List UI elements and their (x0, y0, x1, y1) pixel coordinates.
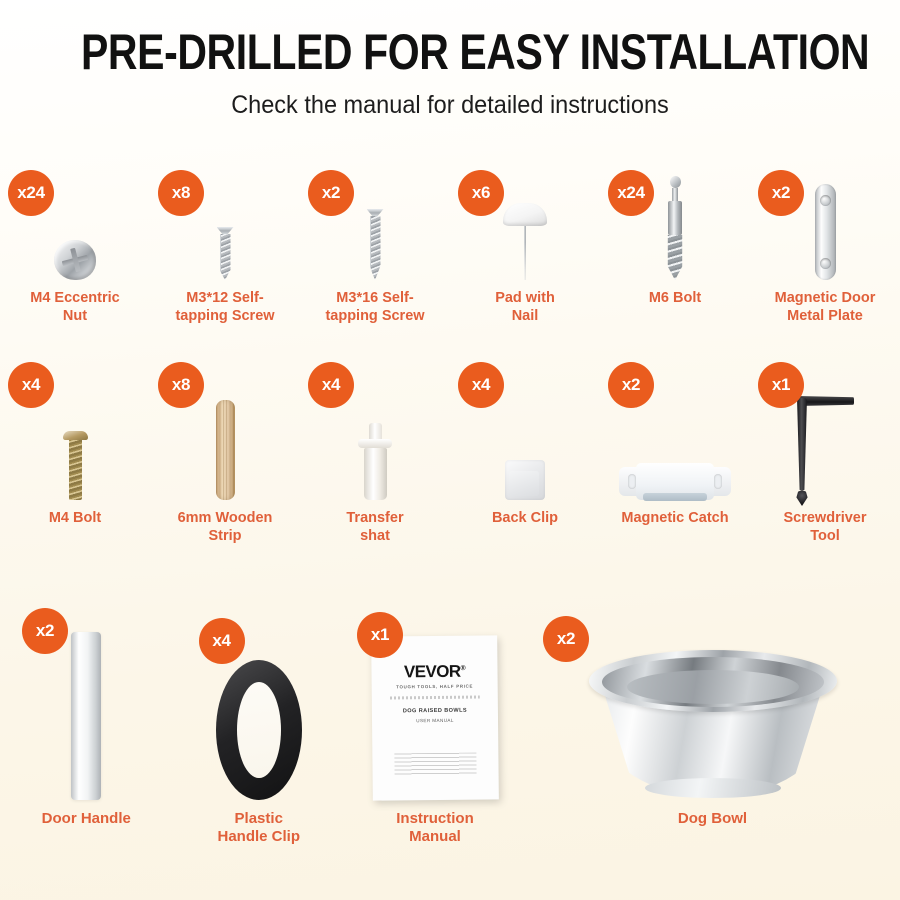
part-label: Back Clip (492, 510, 558, 528)
quantity-badge: x4 (199, 618, 245, 664)
part-label: Transfer shat (346, 510, 403, 545)
part-label: M3*12 Self- tapping Screw (175, 290, 274, 325)
quantity-badge: x4 (308, 362, 354, 408)
quantity-badge: x24 (608, 170, 654, 216)
page-subtitle: Check the manual for detailed instructio… (27, 91, 873, 120)
part-art: x2 (0, 612, 173, 800)
part-item-back-clip[interactable]: x4 Back Clip (450, 372, 600, 545)
part-art: x2 (525, 612, 900, 800)
quantity-badge: x1 (758, 362, 804, 408)
part-art: x4 (173, 612, 346, 800)
quantity-badge: x2 (758, 170, 804, 216)
part-label: M4 Eccentric Nut (30, 290, 119, 325)
m4-bolt-icon (63, 431, 88, 500)
quantity-badge: x6 (458, 170, 504, 216)
door-handle-icon (71, 632, 101, 800)
part-item-instruction-manual[interactable]: x1 VEVOR® TOUGH TOOLS, HALF PRICE DOG RA… (345, 612, 525, 847)
part-item-m6-bolt[interactable]: x24 M6 Bolt (600, 180, 750, 325)
magnetic-door-metal-plate-icon (815, 184, 836, 280)
instruction-manual-icon: VEVOR® TOUGH TOOLS, HALF PRICE DOG RAISE… (371, 635, 499, 800)
part-art: x4 (300, 372, 450, 500)
part-label: M4 Bolt (49, 510, 101, 528)
wooden-dowel-icon (216, 400, 235, 500)
quantity-badge: x1 (357, 612, 403, 658)
part-art: x2 (300, 180, 450, 280)
quantity-badge: x2 (608, 362, 654, 408)
pad-with-nail-icon (503, 203, 547, 280)
part-art: x24 (0, 180, 150, 280)
part-label: Magnetic Catch (621, 510, 728, 528)
quantity-badge: x4 (458, 362, 504, 408)
plastic-handle-clip-icon (216, 660, 302, 800)
part-art: x24 (600, 180, 750, 280)
part-label: Screwdriver Tool (783, 510, 866, 545)
quantity-badge: x8 (158, 170, 204, 216)
self-tapping-screw-icon (367, 209, 384, 280)
page-title: PRE-DRILLED FOR EASY INSTALLATION (81, 26, 819, 79)
quantity-badge: x2 (22, 608, 68, 654)
part-art: x1 (750, 372, 900, 500)
transfer-shaft-icon (358, 423, 392, 500)
part-art: x1 VEVOR® TOUGH TOOLS, HALF PRICE DOG RA… (345, 612, 525, 800)
part-item-transfer-shaft[interactable]: x4 Transfer shat (300, 372, 450, 545)
manual-divider (390, 696, 480, 700)
quantity-badge: x2 (308, 170, 354, 216)
part-item-self-tapping-screw-16[interactable]: x2 M3*16 Self- tapping Screw (300, 180, 450, 325)
parts-row-3: x2 Door Handle x4 Plastic Handle Clip x1… (0, 612, 900, 847)
m6-bolt-icon (665, 176, 685, 280)
manual-doc-type: USER MANUAL (386, 717, 484, 723)
part-item-self-tapping-screw-12[interactable]: x8 M3*12 Self- tapping Screw (150, 180, 300, 325)
manual-body-text (394, 753, 476, 776)
part-item-magnetic-door-metal-plate[interactable]: x2 Magnetic Door Metal Plate (750, 180, 900, 325)
part-label: M6 Bolt (649, 290, 701, 308)
part-item-eccentric-nut[interactable]: x24 M4 Eccentric Nut (0, 180, 150, 325)
back-clip-icon (505, 460, 545, 500)
part-label: 6mm Wooden Strip (178, 510, 273, 545)
self-tapping-screw-icon (217, 227, 234, 280)
quantity-badge: x4 (8, 362, 54, 408)
screwdriver-tool-icon (796, 396, 854, 500)
manual-tagline: TOUGH TOOLS, HALF PRICE (386, 683, 484, 689)
header: PRE-DRILLED FOR EASY INSTALLATION Check … (0, 0, 900, 120)
part-art: x2 (750, 180, 900, 280)
quantity-badge: x8 (158, 362, 204, 408)
parts-row-1: x24 M4 Eccentric Nut x8 M3*12 Self- tapp… (0, 180, 900, 325)
part-item-screwdriver-tool[interactable]: x1 Screwdriver Tool (750, 372, 900, 545)
part-item-pad-with-nail[interactable]: x6 Pad with Nail (450, 180, 600, 325)
part-art: x8 (150, 180, 300, 280)
magnetic-catch-icon (619, 463, 731, 500)
eccentric-nut-icon (54, 240, 96, 280)
part-item-m4-bolt[interactable]: x4 M4 Bolt (0, 372, 150, 545)
part-label: Dog Bowl (678, 810, 747, 828)
part-label: Magnetic Door Metal Plate (775, 290, 876, 325)
part-item-plastic-handle-clip[interactable]: x4 Plastic Handle Clip (173, 612, 346, 847)
dog-bowl-icon (589, 650, 837, 800)
manual-product-name: DOG RAISED BOWLS (386, 707, 484, 714)
part-art: x2 (600, 372, 750, 500)
part-art: x4 (0, 372, 150, 500)
parts-row-2: x4 M4 Bolt x8 6mm Wooden Strip x4 Transf… (0, 372, 900, 545)
manual-brand: VEVOR® (385, 661, 483, 682)
part-label: Door Handle (42, 810, 131, 828)
part-art: x8 (150, 372, 300, 500)
part-label: Pad with Nail (495, 290, 555, 325)
quantity-badge: x2 (543, 616, 589, 662)
part-art: x6 (450, 180, 600, 280)
part-item-door-handle[interactable]: x2 Door Handle (0, 612, 173, 847)
part-item-wooden-strip[interactable]: x8 6mm Wooden Strip (150, 372, 300, 545)
part-art: x4 (450, 372, 600, 500)
part-item-dog-bowl[interactable]: x2 Dog Bowl (525, 612, 900, 847)
part-label: Instruction Manual (396, 810, 474, 847)
quantity-badge: x24 (8, 170, 54, 216)
part-item-magnetic-catch[interactable]: x2 Magnetic Catch (600, 372, 750, 545)
part-label: Plastic Handle Clip (217, 810, 300, 847)
part-label: M3*16 Self- tapping Screw (325, 290, 424, 325)
